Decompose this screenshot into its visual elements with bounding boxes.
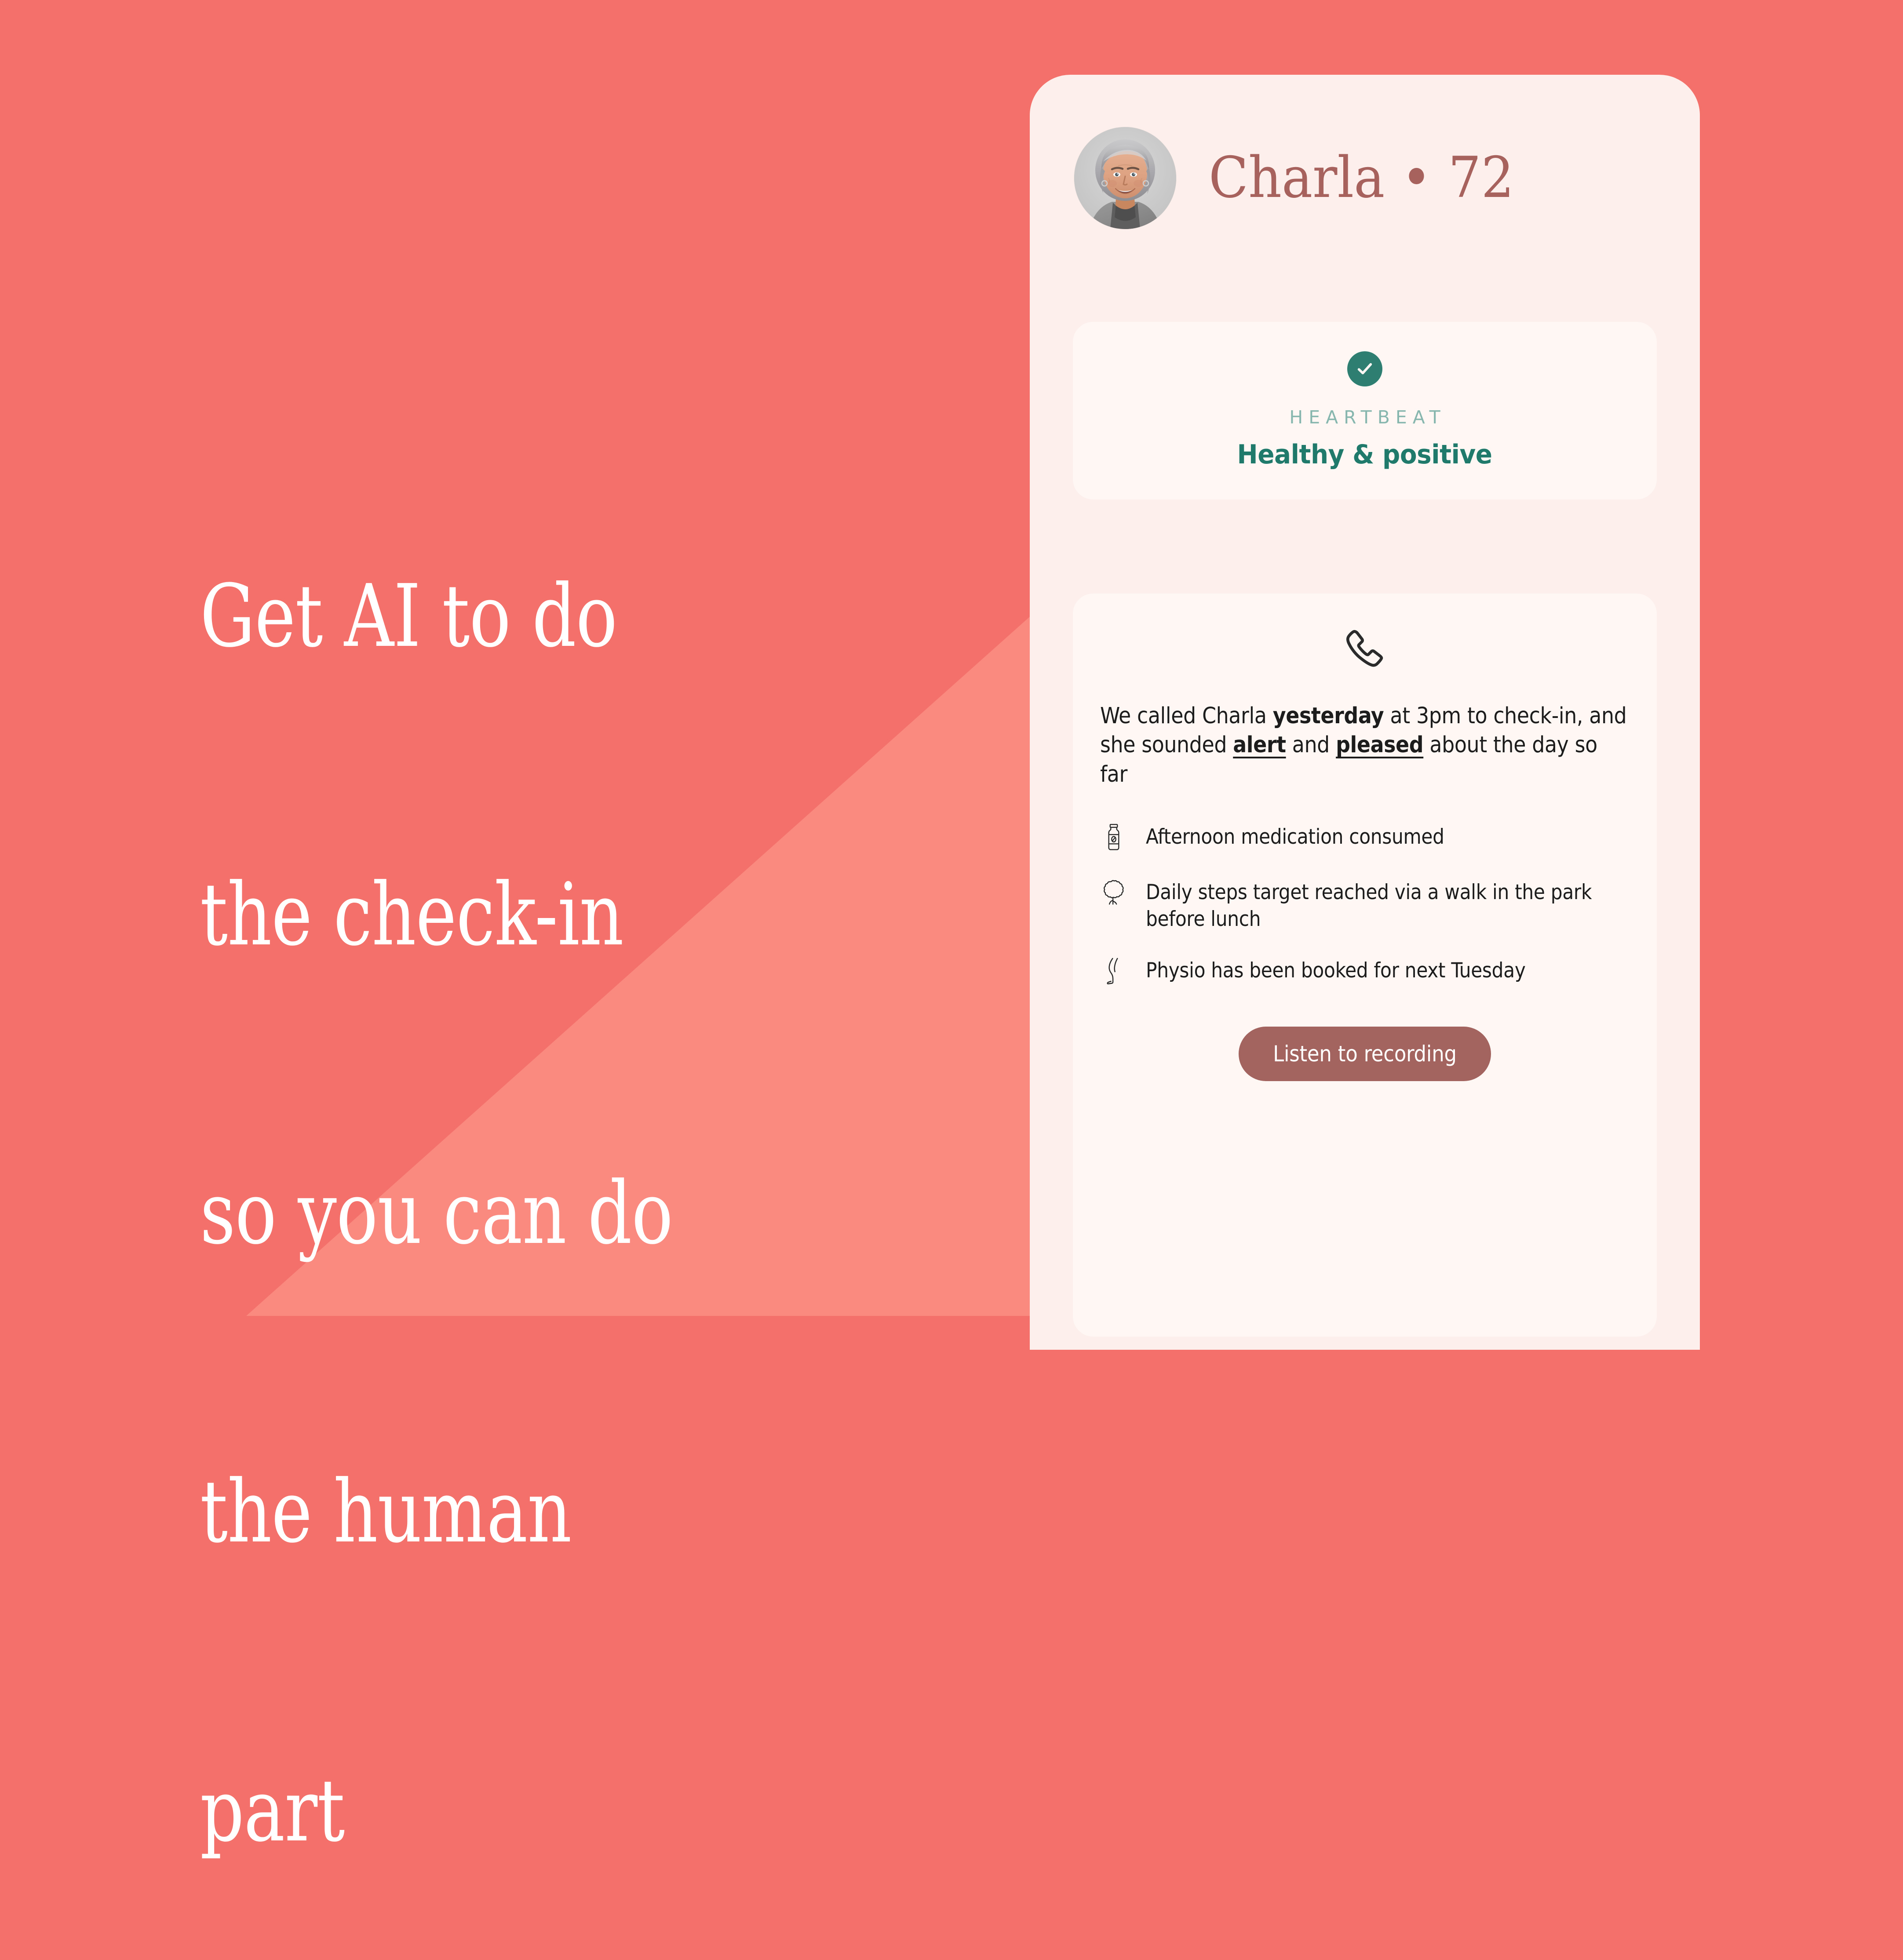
list-item-label: Daily steps target reached via a walk in… bbox=[1146, 878, 1630, 933]
headline-line-4: the human bbox=[200, 1462, 777, 1562]
summary-underline-alert: alert bbox=[1233, 732, 1286, 758]
headline-line-2: the check-in bbox=[200, 865, 777, 965]
phone-handset-icon bbox=[1342, 625, 1388, 672]
profile-header: Charla • 72 bbox=[1030, 75, 1700, 281]
heartbeat-label: HEARTBEAT bbox=[1283, 407, 1446, 428]
list-item: Daily steps target reached via a walk in… bbox=[1100, 878, 1630, 933]
leg-icon bbox=[1100, 956, 1127, 988]
summary-bold-yesterday: yesterday bbox=[1273, 703, 1384, 729]
summary-part-3: and bbox=[1286, 732, 1336, 758]
call-highlights-list: Afternoon medication consumed Daily step… bbox=[1100, 823, 1630, 988]
listen-button-row: Listen to recording bbox=[1073, 1027, 1657, 1081]
profile-name: Charla • 72 bbox=[1209, 150, 1514, 206]
list-item: Physio has been booked for next Tuesday bbox=[1100, 956, 1630, 988]
avatar bbox=[1074, 127, 1176, 229]
medicine-bottle-icon bbox=[1100, 823, 1127, 854]
tree-icon bbox=[1100, 878, 1127, 910]
page-headline: Get AI to do the check-in so you can do … bbox=[200, 368, 777, 1960]
call-summary-text: We called Charla yesterday at 3pm to che… bbox=[1100, 702, 1630, 789]
list-item-label: Afternoon medication consumed bbox=[1146, 823, 1444, 850]
check-circle-icon bbox=[1347, 351, 1382, 386]
headline-line-3: so you can do bbox=[200, 1164, 777, 1263]
summary-underline-pleased: pleased bbox=[1336, 732, 1423, 758]
listen-to-recording-button[interactable]: Listen to recording bbox=[1239, 1027, 1491, 1081]
headline-line-5: part bbox=[200, 1761, 777, 1861]
phone-icon-container bbox=[1073, 594, 1657, 672]
list-item-label: Physio has been booked for next Tuesday bbox=[1146, 956, 1526, 984]
headline-line-1: Get AI to do bbox=[200, 567, 777, 666]
summary-part-1: We called Charla bbox=[1100, 703, 1273, 729]
heartbeat-status-text: Healthy & positive bbox=[1237, 439, 1492, 470]
call-summary-card: We called Charla yesterday at 3pm to che… bbox=[1073, 594, 1657, 1337]
list-item: Afternoon medication consumed bbox=[1100, 823, 1630, 854]
phone-mockup-panel: Charla • 72 HEARTBEAT Healthy & positive… bbox=[1030, 75, 1700, 1350]
heartbeat-status-card: HEARTBEAT Healthy & positive bbox=[1073, 322, 1657, 499]
